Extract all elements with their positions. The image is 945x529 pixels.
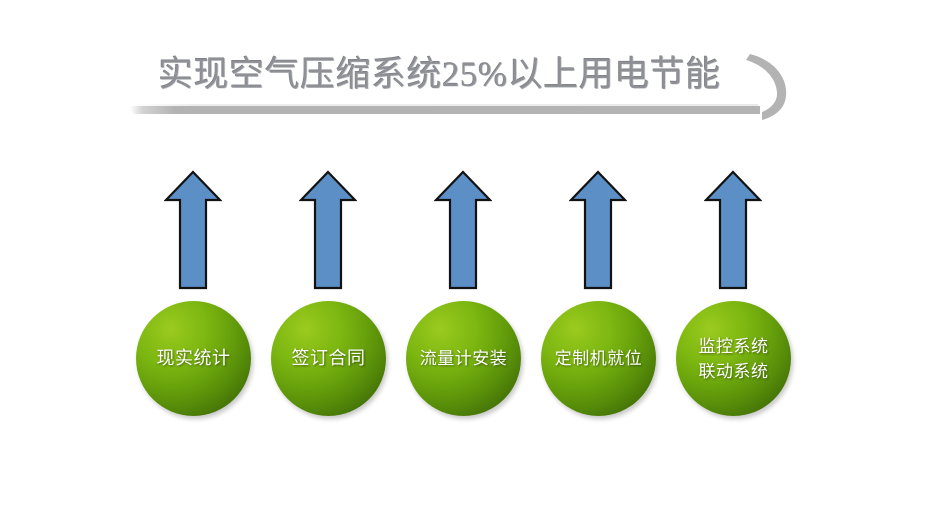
step-label-1: 现实统计 <box>154 347 234 370</box>
up-arrow-icon-2 <box>299 170 357 290</box>
step-sphere-1[interactable]: 现实统计 <box>136 301 251 416</box>
up-arrow-icon-5 <box>704 170 762 290</box>
step-sphere-5[interactable]: 监控系统 联动系统 <box>676 301 791 416</box>
step-sphere-4[interactable]: 定制机就位 <box>541 301 656 416</box>
up-arrow-icon-3 <box>434 170 492 290</box>
up-arrow-icon-1 <box>164 170 222 290</box>
step-label-2: 签订合同 <box>289 347 369 370</box>
step-sphere-3[interactable]: 流量计安装 <box>406 301 521 416</box>
title-banner: 实现空气压缩系统25%以上用电节能 <box>120 34 800 126</box>
page-title: 实现空气压缩系统25%以上用电节能 <box>158 44 748 106</box>
step-label-3: 流量计安装 <box>417 347 511 370</box>
step-label-4: 定制机就位 <box>552 347 646 370</box>
step-label-5: 监控系统 联动系统 <box>696 334 772 384</box>
slide-canvas: 实现空气压缩系统25%以上用电节能 现实统计 签订合同 流量计安装 定制机就位 … <box>0 0 945 529</box>
up-arrow-icon-4 <box>569 170 627 290</box>
banner-underline-bar <box>130 106 760 114</box>
step-sphere-2[interactable]: 签订合同 <box>271 301 386 416</box>
